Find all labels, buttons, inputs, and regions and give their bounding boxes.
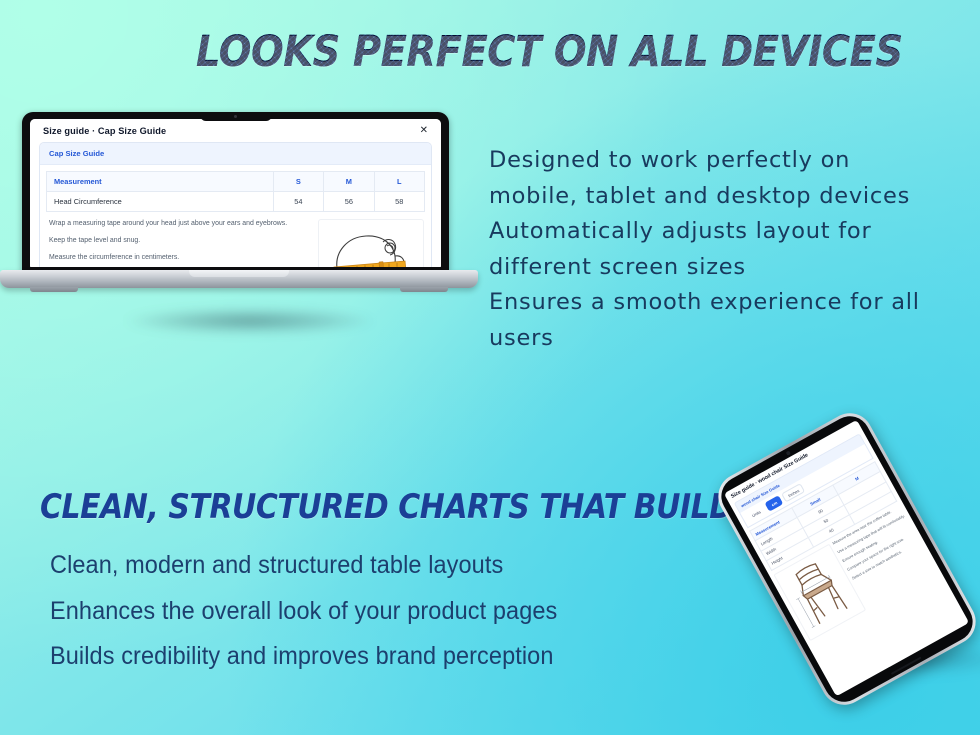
close-icon[interactable]: ✕ xyxy=(419,126,429,136)
benefits-list-top: Designed to work perfectly on mobile, ta… xyxy=(489,143,941,356)
instruction-item: Wrap a measuring tape around your head j… xyxy=(49,219,311,229)
column-header-s: S xyxy=(273,172,323,192)
panel-content: Measurement S M L Head Circumfer xyxy=(40,165,431,267)
cap-size-table: Measurement S M L Head Circumfer xyxy=(46,171,425,212)
benefit-item: Builds credibility and improves brand pe… xyxy=(50,634,670,680)
unit-toggle-label: Units xyxy=(745,504,767,522)
benefit-item: Clean, modern and structured table layou… xyxy=(50,543,670,589)
laptop-foot-left xyxy=(30,287,78,292)
measuring-tape xyxy=(334,261,406,267)
modal-title: Size guide · Cap Size Guide xyxy=(43,126,166,136)
instructions-list: Wrap a measuring tape around your head j… xyxy=(49,219,311,267)
phone-camera-icon xyxy=(786,450,791,455)
instruction-item: Keep the tape level and snug. xyxy=(49,236,311,246)
page-title-primary-text: LOOKS PERFECT ON ALL DEVICES xyxy=(196,27,903,77)
column-header-m: M xyxy=(324,172,374,192)
phone-mockup: Size guide · wood chair Size Guide wood … xyxy=(710,405,980,713)
cell-size-l: 58 xyxy=(374,192,424,212)
table-header-row: Measurement S M L xyxy=(47,172,425,192)
poster-canvas: LOOKS PERFECT ON ALL DEVICES Size guide … xyxy=(0,0,980,735)
instruction-item: Measure the circumference in centimeters… xyxy=(49,253,311,263)
column-header-l: L xyxy=(374,172,424,192)
column-header-measurement: Measurement xyxy=(47,172,274,192)
panel-title: Cap Size Guide xyxy=(40,143,431,165)
benefit-item: Enhances the overall look of your produc… xyxy=(50,589,670,635)
benefit-item: Designed to work perfectly on mobile, ta… xyxy=(489,143,941,214)
instructions-row: Wrap a measuring tape around your head j… xyxy=(46,212,425,267)
unit-option-cm[interactable]: cm xyxy=(765,495,784,512)
laptop-camera-notch xyxy=(200,112,272,121)
cell-measurement-name: Head Circumference xyxy=(47,192,274,212)
laptop-screen: Size guide · Cap Size Guide ✕ Cap Size G… xyxy=(30,119,441,267)
page-title-primary: LOOKS PERFECT ON ALL DEVICES xyxy=(196,27,903,77)
laptop-mockup: Size guide · Cap Size Guide ✕ Cap Size G… xyxy=(0,112,490,432)
modal-body: Cap Size Guide Measurement S M L xyxy=(30,142,441,267)
laptop-base xyxy=(0,270,478,288)
laptop-foot-right xyxy=(400,287,448,292)
cell-size-m: 56 xyxy=(324,192,374,212)
laptop-lid: Size guide · Cap Size Guide ✕ Cap Size G… xyxy=(22,112,449,273)
benefit-item: Ensures a smooth experience for all user… xyxy=(489,285,941,356)
modal-header: Size guide · Cap Size Guide ✕ xyxy=(30,119,441,142)
head-measurement-illustration xyxy=(318,219,424,267)
cell-size-s: 54 xyxy=(273,192,323,212)
head-profile-icon xyxy=(321,222,421,267)
benefit-item: Automatically adjusts layout for differe… xyxy=(489,214,941,285)
phone-screen: Size guide · wood chair Size Guide wood … xyxy=(724,420,969,697)
laptop-shadow xyxy=(125,308,375,334)
size-guide-panel: Cap Size Guide Measurement S M L xyxy=(39,142,432,267)
benefits-list-bottom: Clean, modern and structured table layou… xyxy=(50,543,670,680)
size-guide-modal: Size guide · Cap Size Guide ✕ Cap Size G… xyxy=(30,119,441,267)
table-row: Head Circumference 54 56 58 xyxy=(47,192,425,212)
